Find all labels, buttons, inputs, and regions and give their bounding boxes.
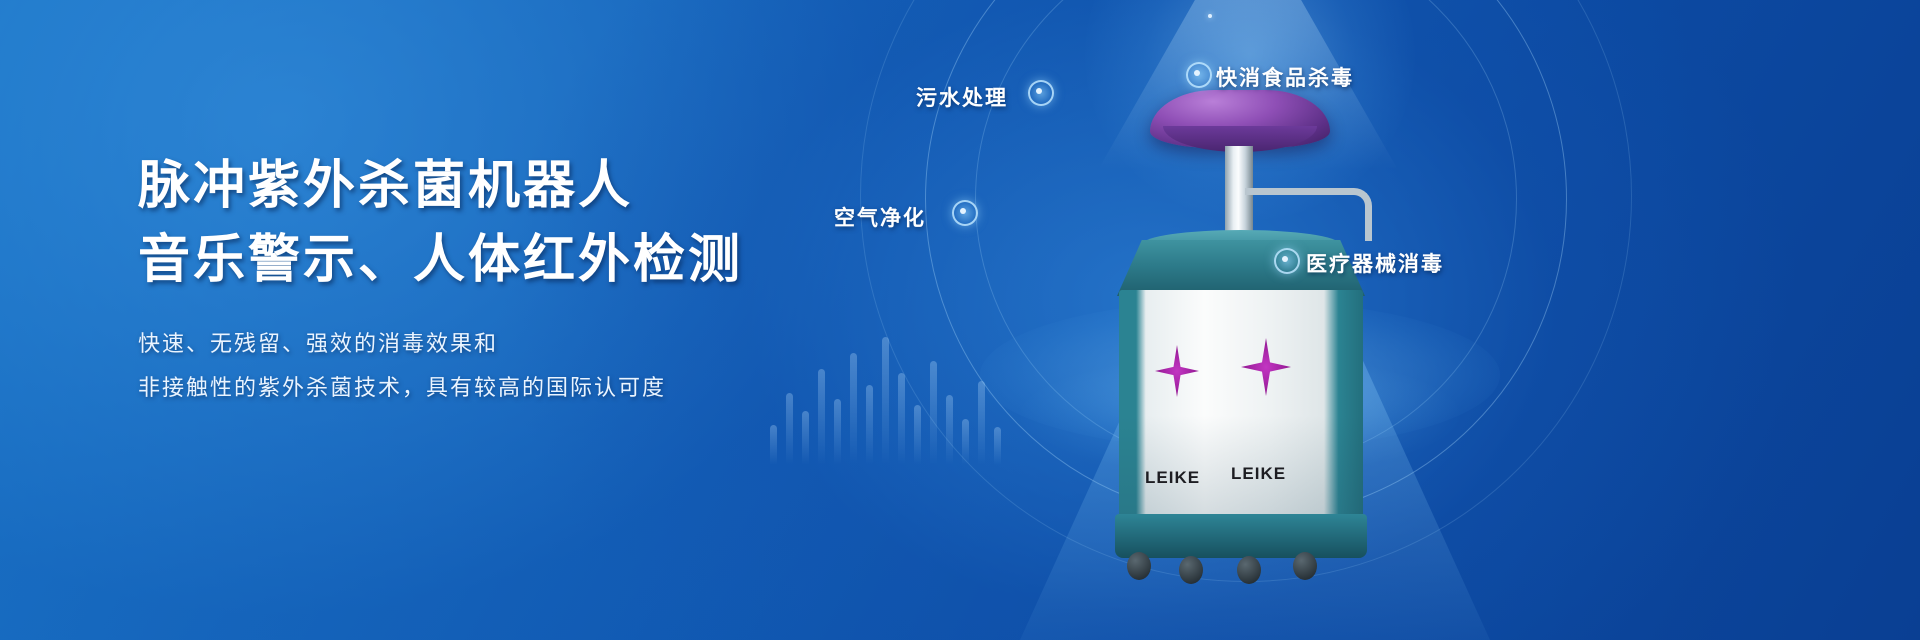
callout-medical-device-disinfection: 医疗器械消毒 <box>1306 248 1444 278</box>
callout-marker-icon <box>1028 80 1054 106</box>
subtext-line-2: 非接触性的紫外杀菌技术，具有较高的国际认可度 <box>138 366 858 410</box>
unit-base <box>1115 514 1367 558</box>
caster-wheel <box>1237 556 1261 584</box>
caster-wheel <box>1293 552 1317 580</box>
caster-wheel <box>1179 556 1203 584</box>
callout-fmcg-food-sterilization: 快消食品杀毒 <box>1216 62 1354 92</box>
copy-block: 脉冲紫外杀菌机器人 音乐警示、人体红外检测 快速、无残留、强效的消毒效果和 非接… <box>138 150 858 410</box>
brand-label-left: LEIKE <box>1145 468 1200 488</box>
headline-line-1: 脉冲紫外杀菌机器人 <box>138 150 858 224</box>
callout-sewage-treatment: 污水处理 <box>916 82 1008 112</box>
callout-air-purification: 空气净化 <box>834 202 926 232</box>
sparkle-icon <box>1208 14 1212 18</box>
uv-disinfection-robot: LEIKE LEIKE <box>1045 90 1445 490</box>
brand-label-right: LEIKE <box>1231 464 1286 484</box>
callout-marker-icon <box>1186 62 1212 88</box>
subtext-line-1: 快速、无残留、强效的消毒效果和 <box>138 322 858 366</box>
headline-line-2: 音乐警示、人体红外检测 <box>138 224 858 298</box>
promotional-banner: 脉冲紫外杀菌机器人 音乐警示、人体红外检测 快速、无残留、强效的消毒效果和 非接… <box>0 0 1920 640</box>
caster-wheel <box>1127 552 1151 580</box>
callout-marker-icon <box>1274 248 1300 274</box>
callout-marker-icon <box>952 200 978 226</box>
